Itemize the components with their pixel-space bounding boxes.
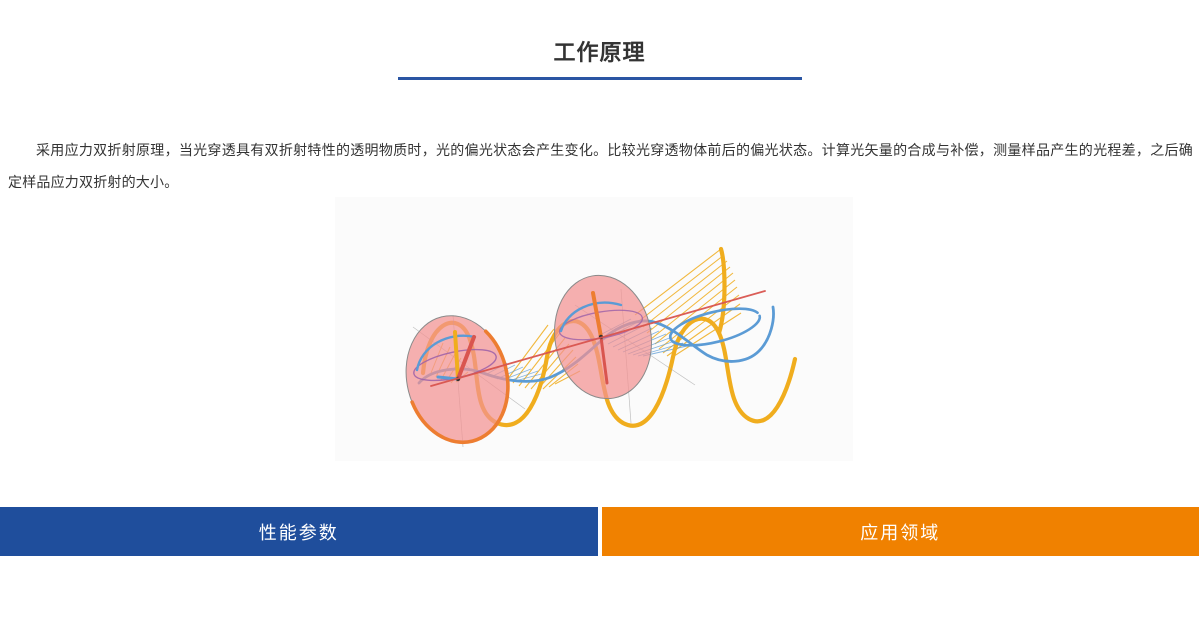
page-title-block: 工作原理 — [0, 38, 1199, 80]
nav-bar-applications-label: 应用领域 — [860, 519, 940, 545]
principle-description-paragraph: 采用应力双折射原理，当光穿透具有双折射特性的透明物质时，光的偏光状态会产生变化。… — [8, 134, 1193, 198]
nav-bar-performance[interactable]: 性能参数 — [0, 507, 598, 556]
principle-illustration — [335, 197, 853, 461]
nav-bar-performance-label: 性能参数 — [259, 519, 339, 545]
section-nav-bars: 性能参数 应用领域 — [0, 507, 1199, 556]
page-title: 工作原理 — [0, 38, 1199, 68]
title-underline-rule — [398, 77, 802, 80]
nav-bar-applications[interactable]: 应用领域 — [602, 507, 1199, 556]
